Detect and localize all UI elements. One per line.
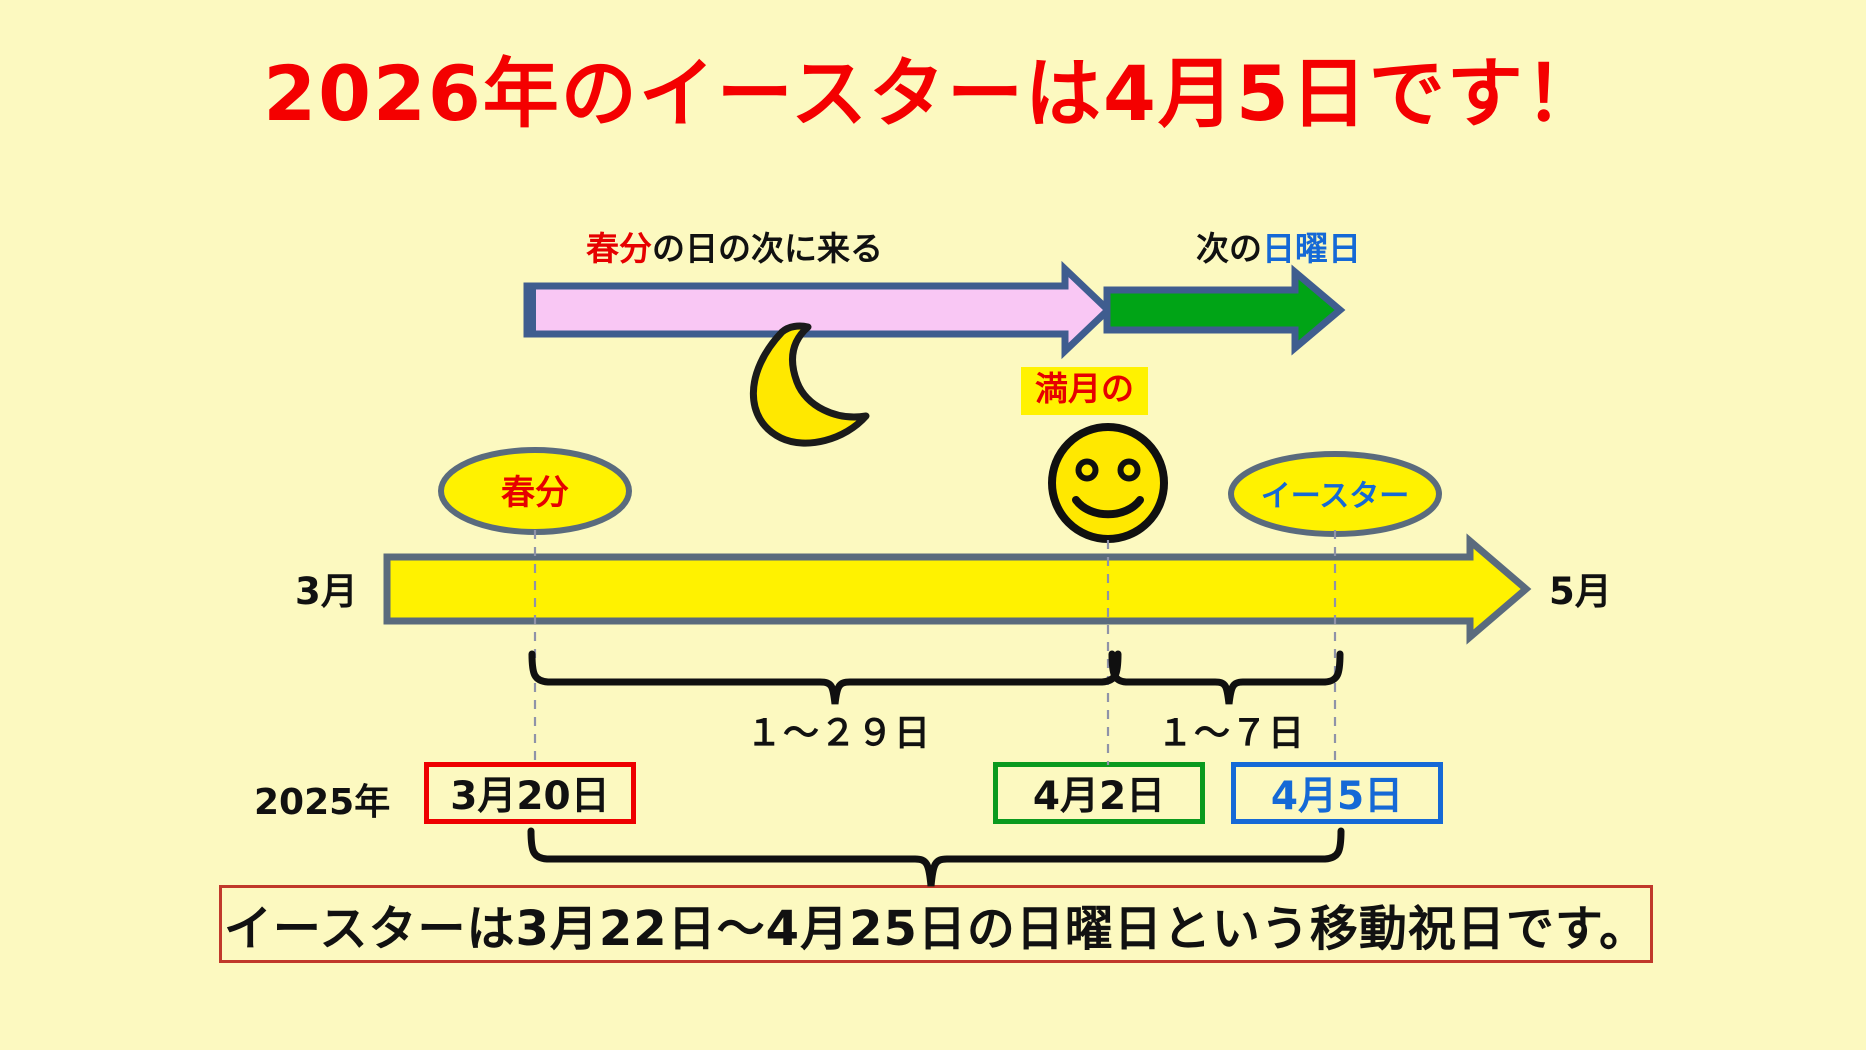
pink-block-arrow: [527, 269, 1108, 351]
brace-easter-range: [531, 831, 1341, 886]
green-block-arrow: [1107, 272, 1340, 348]
vector-graphics-layer: 春分 イースター: [0, 0, 1866, 1050]
ellipse-equinox-label: 春分: [501, 473, 569, 513]
ellipse-equinox[interactable]: 春分: [441, 450, 629, 532]
timeline-arrow: [387, 541, 1526, 637]
ellipse-easter[interactable]: イースター: [1231, 454, 1439, 534]
brace-fullmoon-to-easter: [1112, 654, 1340, 704]
diagram-canvas: 2026年のイースターは4月5日です！ 春分の日の次に来る 次の日曜日 満月の …: [0, 0, 1866, 1050]
crescent-moon-icon: [753, 326, 866, 443]
full-moon-smiley-icon: [1052, 427, 1164, 539]
ellipse-easter-label: イースター: [1261, 479, 1410, 514]
brace-equinox-to-fullmoon: [532, 654, 1118, 704]
